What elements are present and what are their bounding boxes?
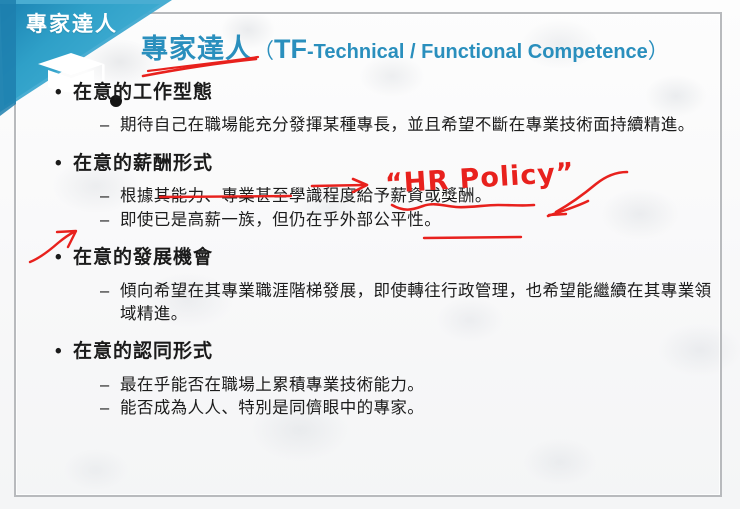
dash-icon: –	[100, 185, 120, 208]
dash-icon: –	[100, 209, 120, 232]
bullet-heading-label: 在意的薪酬形式	[73, 149, 213, 178]
sub-bullet-label: 即使已是高薪一族，但仍在乎外部公平性。	[120, 209, 715, 232]
bullet-dot-icon: •	[55, 78, 73, 107]
title-close-paren: ）	[648, 40, 669, 63]
sub-bullet: – 傾向希望在其專業職涯階梯發展，即使轉往行政管理，也希望能繼續在其專業領域精進…	[100, 280, 715, 327]
bullet-group-development: • 在意的發展機會 – 傾向希望在其專業職涯階梯發展，即使轉往行政管理，也希望能…	[55, 243, 715, 326]
bullet-group-recognition: • 在意的認同形式 – 最在乎能否在職場上累積專業技術能力。 – 能否成為人人、…	[55, 337, 715, 420]
sub-bullet-label: 能否成為人人、特別是同儕眼中的專家。	[120, 397, 715, 420]
sub-bullet: – 最在乎能否在職場上累積專業技術能力。	[100, 374, 715, 397]
title-open-paren: （	[253, 40, 274, 63]
dash-icon: –	[100, 114, 120, 137]
page-title: 專家達人（TF-Technical / Functional Competenc…	[141, 27, 669, 66]
slide-canvas: 專家達人 專家達人（TF-Technical / Functional Comp…	[0, 0, 740, 509]
bullet-heading: • 在意的發展機會	[55, 243, 715, 272]
sub-bullet: – 期待自己在職場能充分發揮某種專長，並且希望不斷在專業技術面持續精進。	[100, 114, 715, 137]
dash-icon: –	[100, 397, 120, 420]
sub-bullet: – 能否成為人人、特別是同儕眼中的專家。	[100, 397, 715, 420]
bullet-dot-icon: •	[55, 149, 73, 178]
bullet-heading-label: 在意的認同形式	[73, 337, 213, 366]
bullet-dot-icon: •	[55, 337, 73, 366]
sub-bullet-label: 傾向希望在其專業職涯階梯發展，即使轉往行政管理，也希望能繼續在其專業領域精進。	[120, 280, 715, 327]
bullet-heading: • 在意的認同形式	[55, 337, 715, 366]
sub-bullet-label: 最在乎能否在職場上累積專業技術能力。	[120, 374, 715, 397]
bullet-heading: • 在意的工作型態	[55, 78, 715, 107]
bullet-heading-label: 在意的發展機會	[73, 243, 213, 272]
title-tf-abbrev: TF	[274, 34, 307, 64]
sub-bullet-label: 期待自己在職場能充分發揮某種專長，並且希望不斷在專業技術面持續精進。	[120, 114, 715, 137]
bullet-group-work-style: • 在意的工作型態 – 期待自己在職場能充分發揮某種專長，並且希望不斷在專業技術…	[55, 78, 715, 138]
bullet-heading-label: 在意的工作型態	[73, 78, 213, 107]
dash-icon: –	[100, 280, 120, 303]
title-english: -Technical / Functional Competence	[307, 41, 648, 63]
title-chinese: 專家達人	[141, 34, 253, 64]
banner-label: 專家達人	[26, 8, 118, 38]
bullet-content: • 在意的工作型態 – 期待自己在職場能充分發揮某種專長，並且希望不斷在專業技術…	[55, 78, 715, 423]
dash-icon: –	[100, 374, 120, 397]
bullet-dot-icon: •	[55, 243, 73, 272]
sub-bullet: – 即使已是高薪一族，但仍在乎外部公平性。	[100, 209, 715, 232]
